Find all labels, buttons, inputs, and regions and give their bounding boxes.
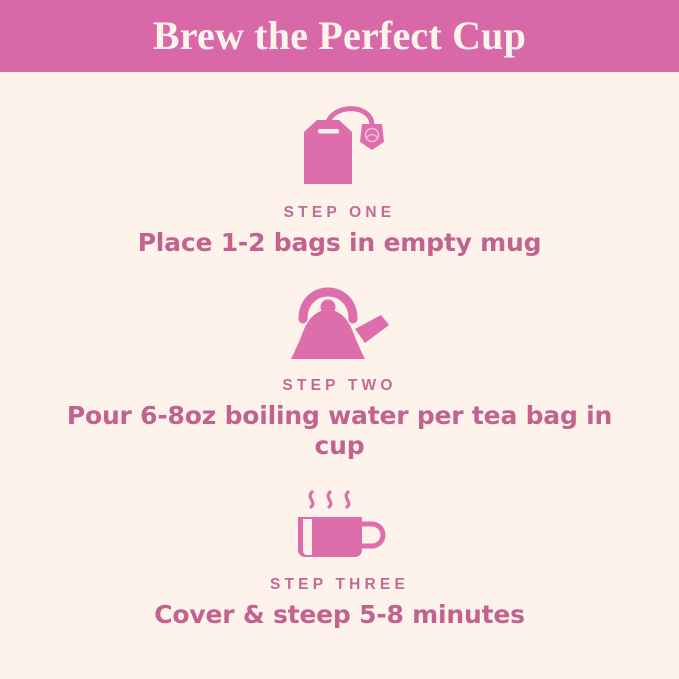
tea-bag-icon <box>292 98 388 190</box>
steaming-mug-icon <box>288 486 392 562</box>
poster-header-banner: Brew the Perfect Cup <box>0 0 679 72</box>
step-item-three: STEP THREE Cover & steep 5-8 minutes <box>0 486 679 631</box>
step-item-one: STEP ONE Place 1-2 bags in empty mug <box>0 98 679 259</box>
steps-list: STEP ONE Place 1-2 bags in empty mug STE… <box>0 72 679 679</box>
brew-instructions-poster: Brew the Perfect Cup STEP ONE <box>0 0 679 679</box>
step-text-three: Cover & steep 5-8 minutes <box>154 600 525 631</box>
step-label-two: STEP TWO <box>282 377 396 395</box>
step-label-three: STEP THREE <box>270 576 409 594</box>
step-label-one: STEP ONE <box>284 204 396 222</box>
kettle-icon <box>277 285 403 363</box>
step-text-two: Pour 6-8oz boiling water per tea bag in … <box>60 401 620 462</box>
step-text-one: Place 1-2 bags in empty mug <box>138 228 542 259</box>
page-title: Brew the Perfect Cup <box>153 16 526 56</box>
step-item-two: STEP TWO Pour 6-8oz boiling water per te… <box>0 285 679 462</box>
